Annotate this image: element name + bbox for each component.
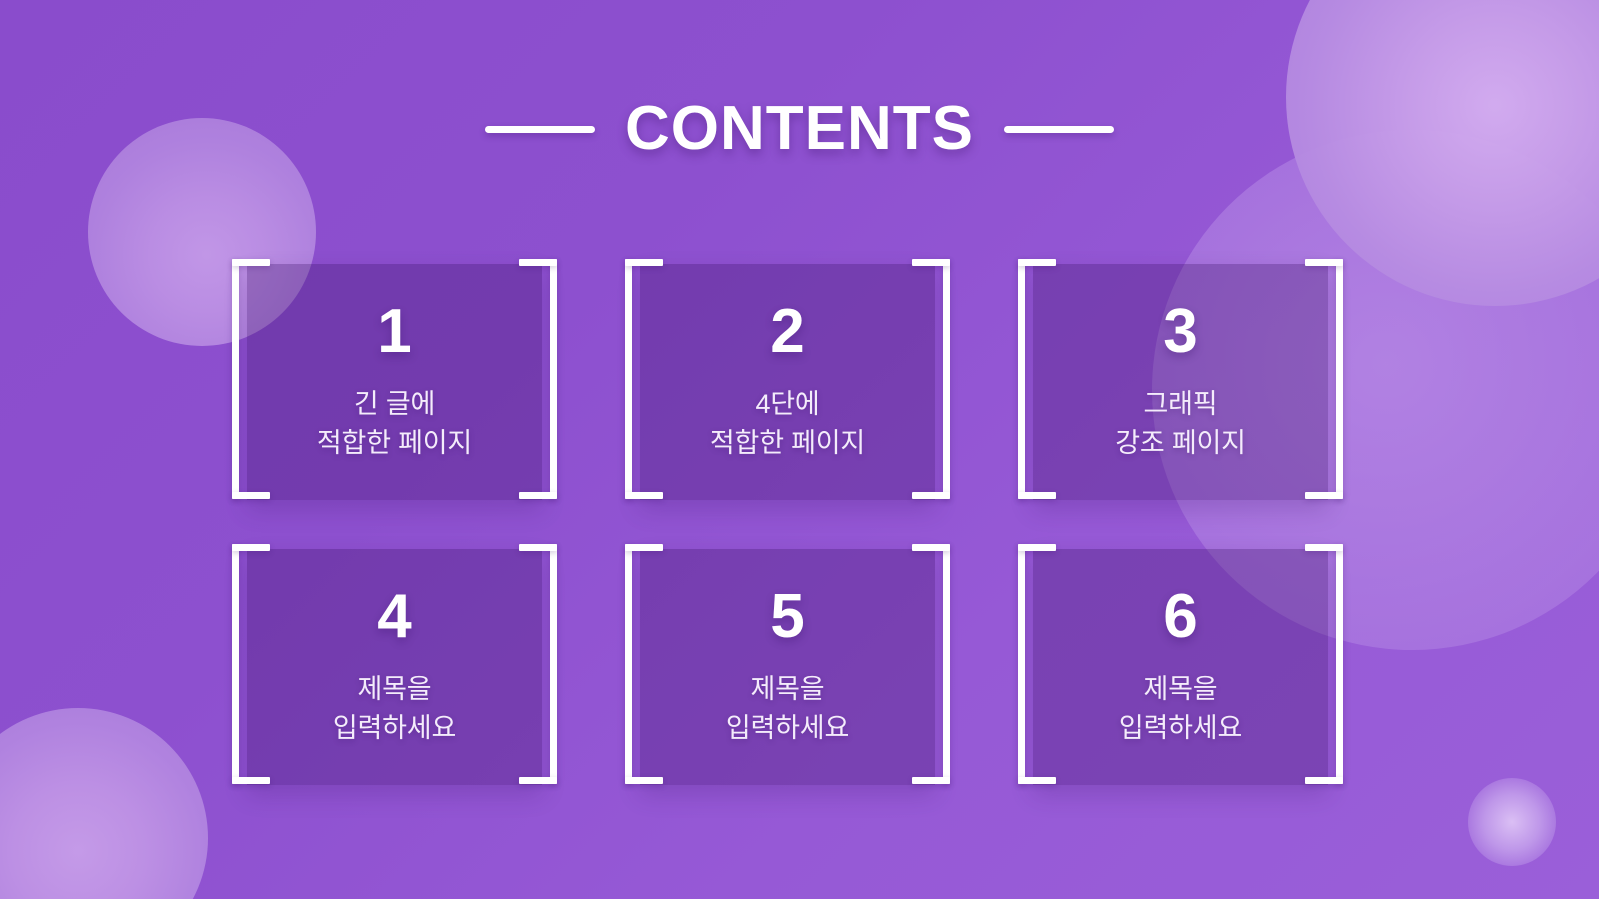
presentation-slide: CONTENTS 1 긴 글에 적합한 페이지 xyxy=(0,0,1599,899)
card-label-line-2: 입력하세요 xyxy=(1119,709,1242,748)
card-content: 4 제목을 입력하세요 xyxy=(232,544,557,784)
card-label-line-2: 강조 페이지 xyxy=(1115,424,1246,463)
page-title: CONTENTS xyxy=(625,98,974,160)
card-content: 5 제목을 입력하세요 xyxy=(625,544,950,784)
card-label-line-2: 적합한 페이지 xyxy=(317,424,472,463)
card-label: 제목을 입력하세요 xyxy=(333,670,456,748)
card-label-line-1: 제목을 xyxy=(726,670,849,709)
card-content: 1 긴 글에 적합한 페이지 xyxy=(232,259,557,499)
card-label-line-1: 그래픽 xyxy=(1115,385,1246,424)
content-card-3[interactable]: 3 그래픽 강조 페이지 xyxy=(1018,259,1343,499)
card-label-line-1: 제목을 xyxy=(1119,670,1242,709)
card-label: 제목을 입력하세요 xyxy=(726,670,849,748)
card-label: 제목을 입력하세요 xyxy=(1119,670,1242,748)
content-card-1[interactable]: 1 긴 글에 적합한 페이지 xyxy=(232,259,557,499)
card-label-line-2: 적합한 페이지 xyxy=(710,424,865,463)
slide-header: CONTENTS xyxy=(0,98,1599,160)
title-rule-left-icon xyxy=(485,126,595,133)
card-number: 1 xyxy=(377,301,411,363)
content-card-4[interactable]: 4 제목을 입력하세요 xyxy=(232,544,557,784)
card-number: 3 xyxy=(1163,301,1197,363)
card-number: 4 xyxy=(377,586,411,648)
card-number: 5 xyxy=(770,586,804,648)
card-label-line-2: 입력하세요 xyxy=(333,709,456,748)
card-content: 3 그래픽 강조 페이지 xyxy=(1018,259,1343,499)
card-label: 긴 글에 적합한 페이지 xyxy=(317,385,472,463)
contents-grid: 1 긴 글에 적합한 페이지 2 4단에 적합한 페이지 xyxy=(232,259,1342,784)
background-circle-bottom-right xyxy=(1468,778,1556,866)
card-label-line-1: 긴 글에 xyxy=(317,385,472,424)
content-card-6[interactable]: 6 제목을 입력하세요 xyxy=(1018,544,1343,784)
card-label: 그래픽 강조 페이지 xyxy=(1115,385,1246,463)
card-content: 6 제목을 입력하세요 xyxy=(1018,544,1343,784)
content-card-5[interactable]: 5 제목을 입력하세요 xyxy=(625,544,950,784)
card-content: 2 4단에 적합한 페이지 xyxy=(625,259,950,499)
card-label-line-2: 입력하세요 xyxy=(726,709,849,748)
title-rule-right-icon xyxy=(1004,126,1114,133)
card-label: 4단에 적합한 페이지 xyxy=(710,385,865,463)
background-circle-bottom-left xyxy=(0,708,208,899)
card-number: 6 xyxy=(1163,586,1197,648)
card-label-line-1: 제목을 xyxy=(333,670,456,709)
content-card-2[interactable]: 2 4단에 적합한 페이지 xyxy=(625,259,950,499)
card-label-line-1: 4단에 xyxy=(710,385,865,424)
card-number: 2 xyxy=(770,301,804,363)
